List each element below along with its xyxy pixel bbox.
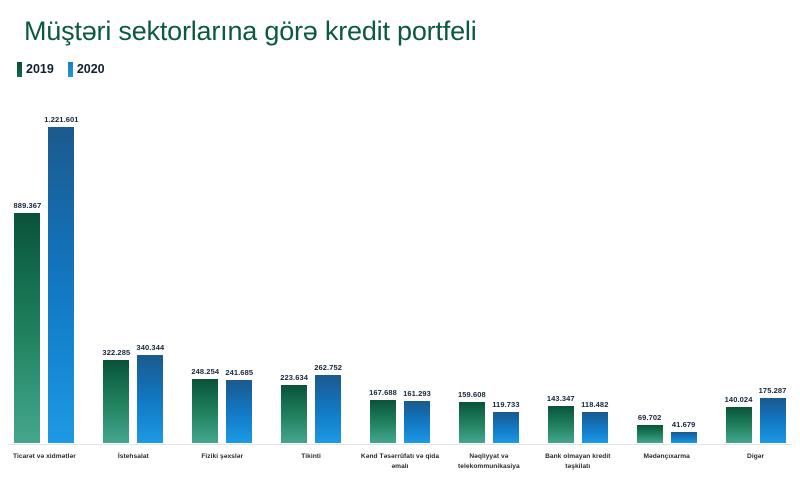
bar-value-label: 41.679 [672,420,696,429]
bar-value-label: 161.293 [403,389,431,398]
bar-group: 159.608119.733 [444,95,533,443]
category-label: Digər [711,452,800,471]
category-label: Ticarət və xidmətlər [0,452,89,471]
bar-value-label: 143.347 [547,394,575,403]
bar-column-2019: 140.024 [726,95,752,443]
bar-value-label: 262.752 [314,363,342,372]
bar-column-2019: 889.367 [14,95,40,443]
bar-column-2019: 167.688 [370,95,396,443]
bar-value-label: 889.367 [14,201,42,210]
bar-column-2019: 223.634 [281,95,307,443]
bar-group: 143.347118.482 [533,95,622,443]
bar-column-2019: 322.285 [103,95,129,443]
bar-2019[interactable] [103,360,129,443]
bar-column-2020: 340.344 [137,95,163,443]
bar-column-2019: 159.608 [459,95,485,443]
chart-title: Müştəri sektorlarına görə kredit portfel… [24,16,477,47]
bar-value-label: 159.608 [458,390,486,399]
bar-value-label: 248.254 [191,367,219,376]
bar-2019[interactable] [281,385,307,443]
bar-group: 322.285340.344 [89,95,178,443]
bar-value-label: 175.287 [759,386,787,395]
bar-column-2020: 41.679 [671,95,697,443]
bar-2019[interactable] [548,406,574,443]
bar-value-label: 241.685 [225,368,253,377]
category-label: Fiziki şəxslər [178,452,267,471]
category-label: Kənd Təsərrüfatı və qida əmalı [356,452,445,471]
bar-2019[interactable] [370,400,396,443]
bar-value-label: 340.344 [136,343,164,352]
bar-group: 248.254241.685 [178,95,267,443]
chart-container: Müştəri sektorlarına görə kredit portfel… [0,0,800,503]
bar-value-label: 140.024 [725,395,753,404]
bar-value-label: 322.285 [102,348,130,357]
legend-item-2019[interactable]: 2019 [17,62,54,77]
bar-2020[interactable] [404,401,430,443]
bar-column-2020: 241.685 [226,95,252,443]
legend-swatch-icon-2019 [17,62,22,77]
legend-label-2020: 2020 [77,63,105,76]
bar-group: 140.024175.287 [711,95,800,443]
bar-value-label: 167.688 [369,388,397,397]
bar-2019[interactable] [14,213,40,443]
bar-value-label: 223.634 [280,373,308,382]
bar-2020[interactable] [582,412,608,443]
legend-item-2020[interactable]: 2020 [68,62,105,77]
bar-group: 69.70241.679 [622,95,711,443]
legend-label-2019: 2019 [26,63,54,76]
bar-2020[interactable] [760,398,786,443]
bar-value-label: 69.702 [638,413,662,422]
bar-2020[interactable] [493,412,519,443]
bar-2020[interactable] [671,432,697,443]
category-label: Tikinti [267,452,356,471]
legend-swatch-icon-2020 [68,62,73,77]
bar-2019[interactable] [637,425,663,443]
category-label: Nəqliyyat və telekommunikasiya [444,452,533,471]
bar-column-2020: 161.293 [404,95,430,443]
bar-column-2019: 143.347 [548,95,574,443]
bar-2020[interactable] [48,127,74,443]
category-label: İstehsalat [89,452,178,471]
bar-column-2020: 175.287 [760,95,786,443]
bar-column-2019: 69.702 [637,95,663,443]
bar-group: 223.634262.752 [267,95,356,443]
chart-legend: 2019 2020 [17,62,105,77]
bar-column-2020: 262.752 [315,95,341,443]
category-axis: Ticarət və xidmətlərİstehsalatFiziki şəx… [0,452,800,471]
bar-value-label: 119.733 [492,400,519,409]
bar-column-2020: 1.221.601 [48,95,74,443]
category-label: Bank olmayan kredit təşkilatı [533,452,622,471]
bar-column-2019: 248.254 [192,95,218,443]
bar-2019[interactable] [459,402,485,443]
category-label: Mədənçıxarma [622,452,711,471]
bar-groups: 889.3671.221.601322.285340.344248.254241… [0,95,800,443]
bar-group: 167.688161.293 [356,95,445,443]
bar-column-2020: 119.733 [493,95,519,443]
bar-2019[interactable] [192,379,218,443]
bar-2020[interactable] [226,380,252,443]
bar-2019[interactable] [726,407,752,443]
bar-column-2020: 118.482 [582,95,608,443]
bar-2020[interactable] [315,375,341,443]
bar-value-label: 118.482 [581,400,608,409]
bar-2020[interactable] [137,355,163,443]
x-axis-baseline [8,444,792,445]
bar-value-label: 1.221.601 [44,115,78,124]
plot-area: 889.3671.221.601322.285340.344248.254241… [0,95,800,445]
bar-group: 889.3671.221.601 [0,95,89,443]
